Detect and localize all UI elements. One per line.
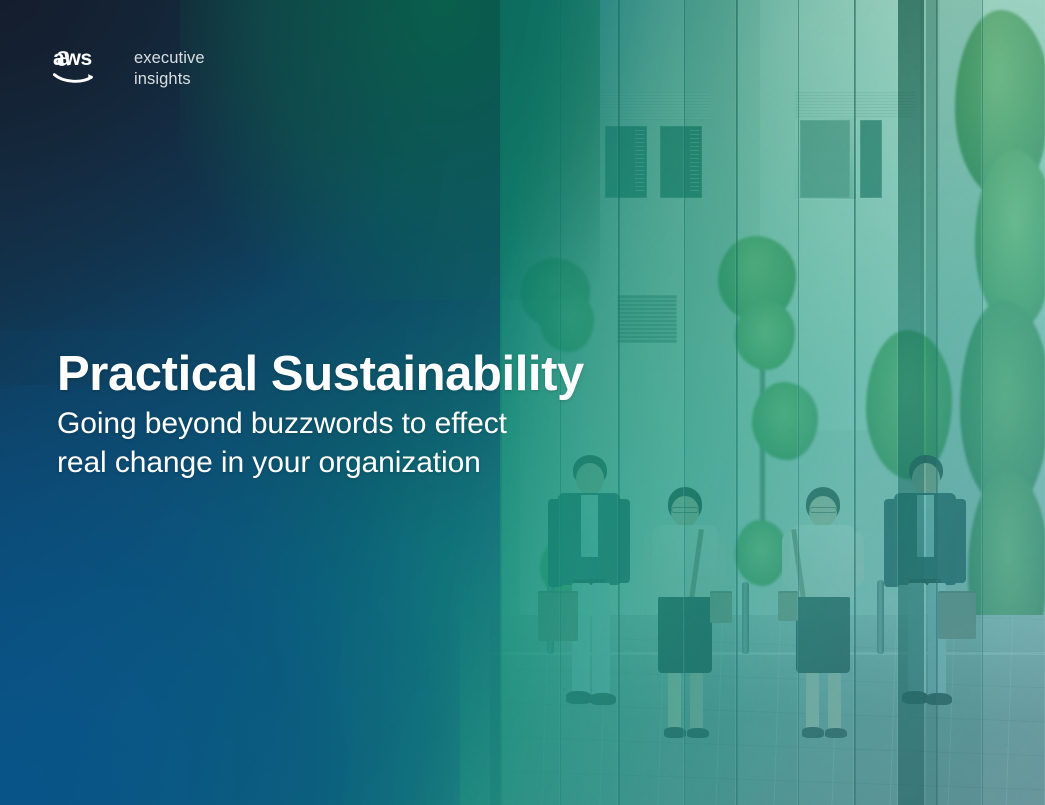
ebook-cover-page: aws executive insights Practical Sustain…	[0, 0, 1045, 805]
program-name-line1: executive	[134, 48, 205, 69]
page-subtitle-line2: real change in your organization	[57, 443, 507, 482]
aws-smile-logo-icon: aws	[53, 44, 117, 90]
aws-executive-insights-logo[interactable]: aws executive insights	[53, 44, 205, 90]
page-subtitle-line1: Going beyond buzzwords to effect	[57, 404, 507, 443]
program-name: executive insights	[134, 44, 205, 90]
program-name-line2: insights	[134, 69, 205, 90]
svg-text:aws: aws	[53, 47, 92, 70]
cover-content: aws executive insights Practical Sustain…	[0, 0, 1045, 805]
page-subtitle: Going beyond buzzwords to effect real ch…	[57, 404, 507, 482]
page-title: Practical Sustainability	[57, 349, 584, 400]
